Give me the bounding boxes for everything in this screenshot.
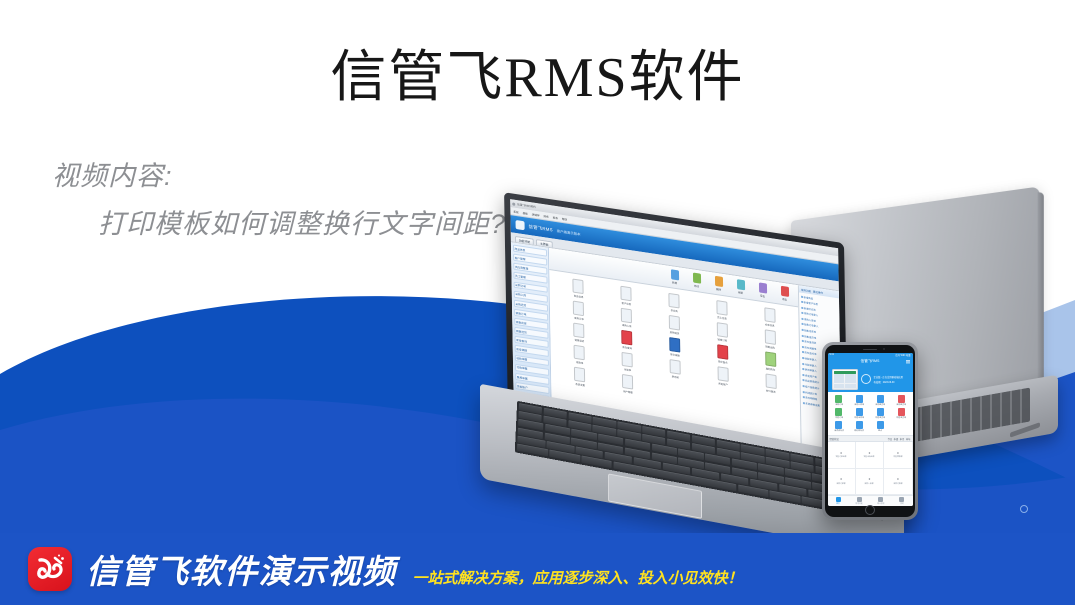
phone-app-item[interactable]: 销售退货单: [891, 408, 912, 420]
grid-item[interactable]: 销售订单: [699, 319, 745, 345]
grid-item[interactable]: 库存盘点: [700, 342, 746, 368]
grid-item-label: 付款单: [624, 367, 631, 372]
phone-stat-label: 采购订单额: [837, 482, 846, 485]
phone-hero-line1: 企业版 - 正在试用移动端应用: [874, 375, 904, 379]
grid-item[interactable]: 供应商: [651, 290, 697, 316]
toolbar-button[interactable]: 导出: [754, 282, 771, 300]
phone-app-item[interactable]: 采购退货单: [891, 395, 912, 407]
toolbar-button[interactable]: 修改: [688, 272, 705, 290]
phone-stat-value: 0: [897, 478, 898, 481]
app-brand-text: 信管飞RMS: [529, 223, 553, 233]
hero-cell: [850, 379, 855, 383]
toolbar-button[interactable]: 退出: [776, 285, 793, 303]
toolbar-button-label: 删除: [716, 287, 721, 292]
toolbar-button[interactable]: 新增: [666, 268, 683, 286]
grid-item-icon: [574, 367, 585, 383]
toolbar-add-icon: [670, 269, 678, 280]
bottom-banner: 信管飞软件演示视频 一站式解决方案，应用逐步深入、投入小见效快！: [0, 533, 1075, 605]
phone-stat-label: 销售出库金额: [864, 456, 875, 459]
grid-item-icon: [622, 374, 633, 390]
phone-tab-label: 统计报表: [877, 503, 884, 506]
grid-item-icon: [621, 330, 632, 346]
phone-app-icon: [877, 421, 884, 429]
grid-item-icon: [764, 329, 775, 345]
toolbar-button-label: 退出: [782, 297, 787, 302]
grid-item-label: 商品信息: [574, 294, 584, 299]
phone-app-icon: [856, 408, 863, 416]
grid-item-icon: [574, 345, 585, 361]
phone-tab-reports[interactable]: 统计报表: [870, 496, 891, 506]
toolbar-button-label: 导出: [760, 294, 765, 299]
grid-item[interactable]: 采购订单: [556, 298, 602, 324]
phone-stat-label: 销售订单金额: [836, 456, 847, 459]
grid-item[interactable]: 统计报表: [748, 371, 794, 397]
grid-item-icon: [717, 366, 728, 382]
hamburger-icon[interactable]: [906, 360, 910, 363]
grid-item-icon: [765, 373, 776, 389]
phone-app-item[interactable]: 期初库存表: [849, 421, 870, 433]
toolbar-refresh-icon: [736, 279, 744, 290]
phone-stat-cell: 0销售回款额: [884, 442, 912, 468]
page-title: 信管飞RMS软件: [0, 46, 1075, 110]
hero-cell: [834, 374, 839, 378]
phone-stat-label: 销售回款额: [893, 456, 902, 459]
grid-item-icon: [717, 344, 728, 360]
grid-item[interactable]: 仓库信息: [747, 305, 793, 331]
hero-cell: [839, 374, 844, 378]
hero-grid: [834, 374, 856, 387]
phone-tab-profile[interactable]: 我的: [891, 496, 912, 506]
phone-app-item[interactable]: 盘点: [870, 421, 891, 433]
phone-app-label: 销售订单: [835, 416, 843, 419]
phone-section-filters[interactable]: 今日 本周 本月 本年: [888, 437, 911, 441]
grid-item-label: 统计报表: [766, 389, 776, 394]
phone-app-icon: [877, 395, 884, 403]
grid-item[interactable]: 资金账户: [700, 364, 746, 390]
right-panel-tab[interactable]: 最近操作: [813, 289, 823, 295]
hero-cell: [839, 384, 844, 388]
phone-stat-cell: 0销售订单金额: [828, 442, 856, 468]
grid-item-icon: [765, 351, 776, 367]
grid-item-label: 系统设置: [575, 382, 585, 387]
phone-stat-value: 0: [840, 478, 841, 481]
phone-app-item[interactable]: 采购退货单: [870, 395, 891, 407]
grid-item-label: 员工信息: [717, 315, 727, 320]
phone-app-label: 盘点: [878, 430, 882, 433]
phone-app-item[interactable]: 销售出库单: [849, 408, 870, 420]
toolbar-export-icon: [758, 282, 766, 293]
phone-filter-option[interactable]: 本年: [906, 437, 911, 441]
grid-item[interactable]: 采购退货: [651, 312, 697, 338]
toolbar-edit-icon: [692, 272, 700, 283]
grid-item-label: 销售退货: [575, 338, 585, 343]
phone-stats-grid: 0销售订单金额 0销售出库金额 0销售回款额 0采购订单额 0采购入库额 0采购…: [828, 442, 913, 495]
phone-app-item[interactable]: 采购入库单: [849, 395, 870, 407]
grid-item[interactable]: 客户信息: [603, 283, 649, 309]
right-panel-tab[interactable]: 常用功能: [801, 287, 811, 293]
phone-hero-thumbnail: [832, 369, 858, 390]
app-brand-subtext: 客户端演示版本: [557, 228, 581, 237]
grid-item-label: 资金账户: [718, 381, 728, 386]
phone-camera-icon: [883, 348, 885, 350]
phone-filter-option[interactable]: 今日: [888, 437, 893, 441]
app-sidebar[interactable]: 商品信息 客户管理 供应商管理 员工管理 采购订单 采购入库 采购退货 销售订单…: [511, 242, 552, 414]
grid-item-label: 库存查询: [622, 345, 632, 350]
grid-item[interactable]: 用户管理: [605, 371, 651, 397]
phone-stat-cell: 0采购入库额: [856, 469, 884, 495]
hero-cell: [839, 379, 844, 383]
phone-tab-label: 我的: [900, 503, 904, 506]
phone-section-header: 经营状况 今日 本周 本月 本年: [828, 435, 913, 443]
menu-item[interactable]: 帮助: [562, 216, 567, 221]
phone-stat-cell: 0采购订单额: [828, 469, 856, 495]
home-icon: [836, 497, 841, 502]
grid-item[interactable]: 费用单: [652, 356, 698, 382]
hero-cell: [834, 384, 839, 388]
toolbar-exit-icon: [780, 286, 788, 297]
phone-speaker: [863, 349, 877, 351]
grid-item-label: 采购订单: [574, 316, 584, 321]
phone-app-label: 期初库存表: [855, 430, 865, 433]
app-brand-logo-icon: [516, 220, 525, 230]
phone-tab-home[interactable]: 首页: [828, 496, 849, 506]
grid-item-label: 仓库信息: [765, 322, 775, 327]
hero-cell: [845, 384, 850, 388]
grid-item-label: 销售出库: [765, 344, 775, 349]
subtitle-label: 视频内容:: [52, 160, 506, 192]
grid-item-label: 销售订单: [718, 337, 728, 342]
hero-cell: [845, 379, 850, 383]
phone-stat-cell: 0销售出库金额: [856, 442, 884, 468]
grid-item-icon: [622, 352, 633, 368]
menu-item[interactable]: 财务: [543, 214, 548, 219]
grid-item-icon: [621, 286, 632, 302]
grid-item[interactable]: 员工信息: [699, 297, 745, 323]
menu-item[interactable]: 系统: [513, 209, 518, 214]
phone-app-item[interactable]: 销售退货单: [870, 408, 891, 420]
phone-filter-option[interactable]: 本周: [894, 437, 899, 441]
phone-app-label: 销售退货单: [876, 416, 886, 419]
toolbar-button-label: 新增: [672, 280, 677, 285]
phone-section-title: 经营状况: [830, 437, 839, 441]
phone-app-label: 商品库存表: [834, 430, 844, 433]
toolbar-button-label: 修改: [694, 284, 699, 289]
grid-item-label: 收款单: [576, 360, 583, 365]
phone-stat-value: 0: [869, 478, 870, 481]
laptop-back-port: [1010, 422, 1040, 438]
hero-cell: [845, 374, 850, 378]
grid-item[interactable]: 库存调拨: [652, 334, 698, 360]
subtitle-topic: 打印模板如何调整换行文字间距?: [98, 208, 506, 240]
phone-app-item[interactable]: 销售订单: [829, 408, 850, 420]
toolbar-button[interactable]: 删除: [710, 275, 727, 293]
menu-item[interactable]: 进销存: [532, 212, 540, 217]
banner-title: 信管飞软件演示视频: [86, 545, 397, 593]
phone-hero-line2: 有效期：2023-06-30: [874, 380, 904, 384]
menu-item[interactable]: 基础: [523, 210, 528, 215]
hero-cell: [834, 379, 839, 383]
phone-status-time: 9:41: [830, 354, 834, 356]
phone-hero-badge-icon: [861, 374, 871, 384]
grid-item-icon: [669, 337, 680, 353]
grid-item-label: 库存调拨: [670, 352, 680, 357]
phone-app-grid[interactable]: 采购订单 采购入库单 采购退货单 采购退货单 销售订单 销售出库单 销售退货单 …: [828, 392, 913, 435]
grid-item-icon: [573, 301, 584, 317]
grid-item-icon: [716, 300, 727, 316]
phone-app-label: 销售出库单: [855, 416, 865, 419]
phone-app-bar: 信管飞RMS: [828, 357, 913, 366]
grid-item[interactable]: 库存查询: [604, 327, 650, 353]
grid-item[interactable]: 商品信息: [555, 276, 601, 302]
grid-item-label: 期初库存: [766, 366, 776, 371]
phone-app-label: 采购订单: [835, 403, 843, 406]
grid-item[interactable]: 采购入库: [604, 305, 650, 331]
grid-icon: [857, 497, 862, 502]
grid-item-icon: [668, 293, 679, 309]
phone-app-icon: [835, 395, 842, 403]
phone-screen[interactable]: 9:41 信号 WiFi 电量 信管飞RMS: [828, 353, 913, 506]
grid-item[interactable]: 销售出库: [747, 327, 793, 353]
phone-mockup: 9:41 信号 WiFi 电量 信管飞RMS: [822, 342, 918, 520]
grid-item[interactable]: 收款单: [557, 342, 603, 368]
grid-item-label: 采购退货: [670, 330, 680, 335]
grid-item-label: 采购入库: [622, 323, 632, 328]
phone-app-item[interactable]: 采购订单: [829, 395, 850, 407]
hero-cell: [850, 384, 855, 388]
subtitle-block: 视频内容: 打印模板如何调整换行文字间距?: [52, 160, 506, 241]
slide-canvas: 信管飞RMS软件 视频内容: 打印模板如何调整换行文字间距? 信管飞RMS软件: [0, 0, 1075, 605]
phone-app-label: 采购退货单: [876, 403, 886, 406]
phone-app-icon: [898, 408, 905, 416]
toolbar-button[interactable]: 刷新: [732, 278, 749, 296]
chart-icon: [878, 497, 883, 502]
phone-hero-text: 企业版 - 正在试用移动端应用 有效期：2023-06-30: [874, 375, 904, 384]
grid-item[interactable]: 期初库存: [747, 349, 793, 375]
grid-item-icon: [574, 323, 585, 339]
phone-app-label: 采购入库单: [855, 403, 865, 406]
phone-app-title: 信管飞RMS: [861, 359, 880, 364]
toolbar-delete-icon: [714, 276, 722, 287]
phone-app-icon: [856, 395, 863, 403]
grid-item-icon: [669, 315, 680, 331]
grid-item-icon: [621, 308, 632, 324]
grid-item-icon: [573, 279, 584, 295]
grid-item[interactable]: 付款单: [604, 349, 650, 375]
phone-body: 9:41 信号 WiFi 电量 信管飞RMS: [825, 345, 915, 517]
phone-stat-label: 采购付款额: [893, 482, 902, 485]
grid-item-label: 客户信息: [622, 301, 632, 306]
phone-filter-option[interactable]: 本月: [900, 437, 905, 441]
phone-app-icon: [898, 395, 905, 403]
grid-item-icon: [670, 359, 681, 375]
menu-item[interactable]: 报表: [553, 215, 558, 220]
app-icon: [512, 202, 515, 205]
toolbar-button-label: 刷新: [738, 290, 743, 295]
banner-tagline: 一站式解决方案，应用逐步深入、投入小见效快！: [413, 567, 743, 588]
grid-item[interactable]: 销售退货: [556, 320, 602, 346]
grid-item-label: 库存盘点: [718, 359, 728, 364]
phone-app-label: 采购退货单: [896, 403, 906, 406]
grid-item-label: 供应商: [671, 308, 678, 313]
user-icon: [899, 497, 904, 502]
phone-stat-cell: 0采购付款额: [884, 469, 912, 495]
phone-app-item[interactable]: 商品库存表: [829, 421, 850, 433]
grid-item-icon: [764, 307, 775, 323]
grid-item[interactable]: 系统设置: [557, 364, 603, 390]
hero-cell: [850, 374, 855, 378]
hero-bar: [834, 371, 856, 374]
phone-home-button[interactable]: [865, 505, 875, 515]
phone-tab-label: 首页: [836, 503, 840, 506]
grid-item-label: 费用单: [672, 374, 679, 379]
phone-app-icon: [856, 421, 863, 429]
logo-glyph-svg: [28, 547, 72, 591]
grid-item-label: 用户管理: [623, 389, 633, 394]
phone-app-icon: [835, 408, 842, 416]
xinguanfei-logo-icon: [28, 547, 72, 591]
device-mockup-group: 信管飞RMS软件 系统 基础 进销存 财务 报表 帮助 信管飞RMS 客户端演示…: [470, 196, 1075, 526]
phone-stat-label: 采购入库额: [865, 482, 874, 485]
phone-hero-card: 企业版 - 正在试用移动端应用 有效期：2023-06-30: [828, 366, 913, 392]
phone-tab-label: 常用功能: [856, 503, 863, 506]
phone-app-icon: [877, 408, 884, 416]
phone-app-label: 销售退货单: [896, 416, 906, 419]
grid-item-icon: [717, 322, 728, 338]
phone-app-icon: [835, 421, 842, 429]
